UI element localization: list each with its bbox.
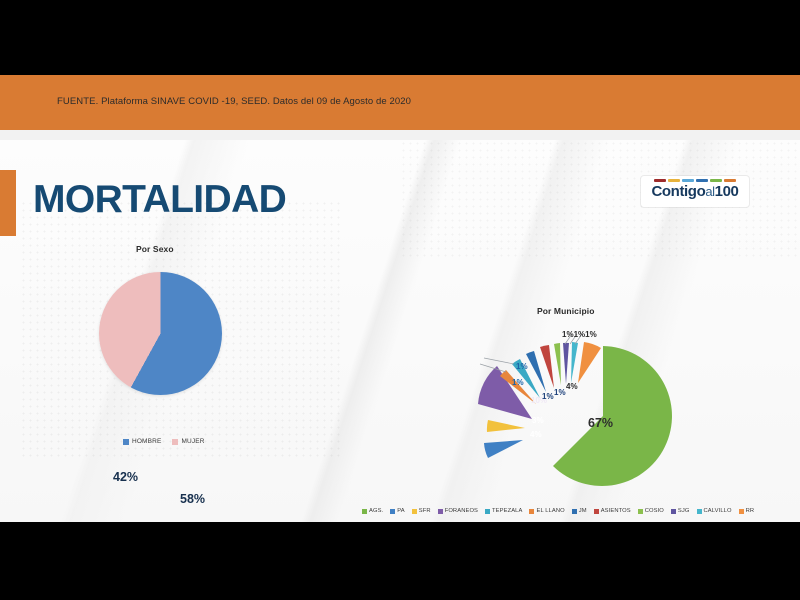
page-title: MORTALIDAD: [33, 178, 286, 222]
municipio-top-labels: 1%1%1%: [562, 330, 597, 339]
sexo-chart-subtitle: Por Sexo: [136, 244, 174, 254]
legend-swatch-cosio: [638, 509, 643, 514]
logo-dash-6: [724, 179, 736, 182]
legend-label-mujer: MUJER: [181, 438, 204, 445]
legend-swatch-asientos: [594, 509, 599, 514]
logo-word-al: al: [705, 184, 714, 199]
legend-label-jm: JM: [579, 508, 587, 514]
legend-item-hombre[interactable]: HOMBRE: [123, 438, 161, 445]
legend-label-sjg: SJG: [678, 508, 690, 514]
municipio-legend: AGS. PA SFR FORANEOS TEPEZALA EL LLANO J…: [362, 508, 754, 514]
slice-sjg: [563, 343, 569, 384]
legend-swatch-calvillo: [697, 509, 702, 514]
legend-label-hombre: HOMBRE: [132, 438, 161, 445]
legend-label-cosio: COSIO: [645, 508, 664, 514]
legend-swatch-pa: [390, 509, 395, 514]
legend-item-rr[interactable]: RR: [739, 508, 755, 514]
legend-item-sjg[interactable]: SJG: [671, 508, 690, 514]
slice-sfr: [487, 420, 525, 432]
legend-swatch-sjg: [671, 509, 676, 514]
municipio-pie-chart[interactable]: 67% 10% 3% 4% 1% 1% 1% 1% 4% 1%1%1%: [470, 320, 680, 500]
sexo-slice-label-mujer: 42%: [113, 470, 138, 484]
legend-swatch-el-llano: [529, 509, 534, 514]
slide-canvas: MORTALIDAD Contigoal100 Por Sexo 58% 42%…: [0, 140, 800, 522]
logo-word-contigo: Contigo: [651, 183, 705, 200]
logo-dash-3: [682, 179, 694, 182]
legend-swatch-hombre: [123, 439, 129, 445]
legend-item-tepezala[interactable]: TEPEZALA: [485, 508, 522, 514]
letterbox-top: [0, 0, 800, 75]
slice-rr: [578, 342, 601, 383]
municipio-chart-subtitle: Por Municipio: [537, 306, 595, 316]
letterbox-bottom: [0, 522, 800, 600]
legend-item-mujer[interactable]: MUJER: [172, 438, 204, 445]
sexo-slice-label-hombre: 58%: [180, 492, 205, 506]
slice-cosio: [554, 343, 561, 385]
logo-dash-5: [710, 179, 722, 182]
sexo-pie-chart[interactable]: [99, 272, 222, 395]
slice-pa: [484, 440, 523, 458]
source-text: FUENTE. Plataforma SINAVE COVID -19, SEE…: [57, 96, 411, 107]
legend-label-pa: PA: [397, 508, 405, 514]
legend-item-pa[interactable]: PA: [390, 508, 405, 514]
municipio-slice-label-sfr: 3%: [532, 416, 544, 425]
slice-jm: [526, 351, 546, 392]
sexo-legend: HOMBRE MUJER: [123, 438, 205, 445]
logo-dash-row: [641, 179, 749, 182]
legend-item-el-llano[interactable]: EL LLANO: [529, 508, 564, 514]
legend-label-el-llano: EL LLANO: [536, 508, 564, 514]
legend-swatch-mujer: [172, 439, 178, 445]
legend-swatch-foraneos: [438, 509, 443, 514]
legend-label-calvillo: CALVILLO: [704, 508, 732, 514]
municipio-slice-label-small-c: 1%: [542, 392, 554, 401]
legend-item-cosio[interactable]: COSIO: [638, 508, 664, 514]
legend-label-tepezala: TEPEZALA: [492, 508, 522, 514]
legend-swatch-rr: [739, 509, 744, 514]
legend-label-asientos: ASIENTOS: [601, 508, 631, 514]
legend-item-foraneos[interactable]: FORANEOS: [438, 508, 478, 514]
legend-swatch-jm: [572, 509, 577, 514]
municipio-slice-label-small-b: 1%: [512, 378, 524, 387]
municipio-pie-svg: [470, 320, 680, 500]
municipio-slice-label-rr: 4%: [566, 382, 578, 391]
legend-swatch-tepezala: [485, 509, 490, 514]
legend-swatch-sfr: [412, 509, 417, 514]
slice-calvillo: [571, 342, 578, 383]
logo-wordmark: Contigoal100: [641, 184, 749, 199]
legend-label-foraneos: FORANEOS: [445, 508, 478, 514]
legend-item-asientos[interactable]: ASIENTOS: [594, 508, 631, 514]
logo-dash-1: [654, 179, 666, 182]
orange-accent-bar: [0, 170, 16, 236]
legend-label-ags: AGS.: [369, 508, 383, 514]
municipio-slice-label-small-d: 1%: [554, 388, 566, 397]
legend-label-rr: RR: [746, 508, 755, 514]
municipio-slice-label-pa: 4%: [530, 430, 542, 439]
legend-item-sfr[interactable]: SFR: [412, 508, 431, 514]
legend-item-ags[interactable]: AGS.: [362, 508, 383, 514]
logo-dash-2: [668, 179, 680, 182]
municipio-slice-label-small-a: 1%: [516, 362, 528, 371]
municipio-slice-label-ags: 67%: [588, 416, 613, 430]
legend-swatch-ags: [362, 509, 367, 514]
slide-viewer: FUENTE. Plataforma SINAVE COVID -19, SEE…: [0, 0, 800, 600]
logo-dash-4: [696, 179, 708, 182]
logo-word-100: 100: [715, 183, 739, 200]
band-gap: [0, 130, 800, 140]
legend-label-sfr: SFR: [419, 508, 431, 514]
contigo-al-100-logo: Contigoal100: [641, 176, 749, 207]
legend-item-calvillo[interactable]: CALVILLO: [697, 508, 732, 514]
legend-item-jm[interactable]: JM: [572, 508, 587, 514]
